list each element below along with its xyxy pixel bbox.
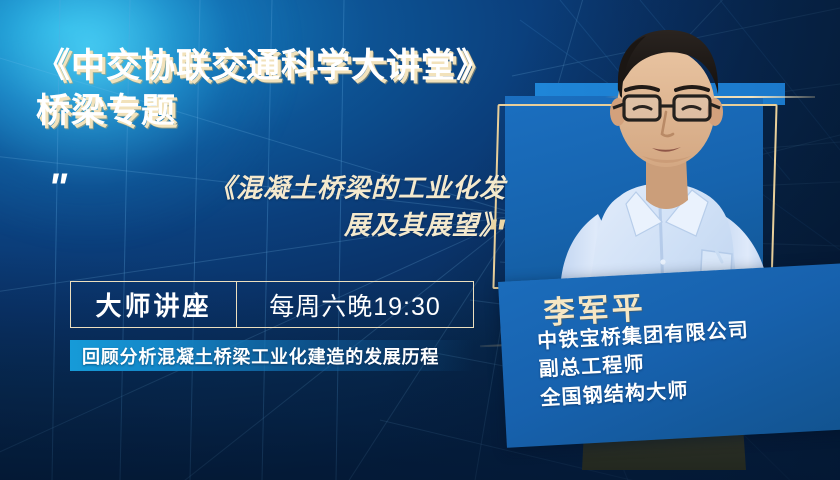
speaker-name-card: 李军平 中铁宝桥集团有限公司 副总工程师 全国钢结构大师 xyxy=(498,263,840,448)
quote-close-icon: " xyxy=(486,214,502,254)
poster-tagline: 回顾分析混凝土桥梁工业化建造的发展历程 xyxy=(70,340,474,371)
session-label: 大师讲座 xyxy=(71,282,237,327)
title-line-1: 《中交协联交通科学大讲堂》 xyxy=(36,44,516,89)
session-info-box: 大师讲座 每周六晚19:30 xyxy=(70,281,474,328)
quote-open-icon: " xyxy=(48,168,64,208)
lecture-topic-quote: " 《混凝土桥梁的工业化发 展及其展望》 " xyxy=(48,168,518,260)
quote-line-1: 《混凝土桥梁的工业化发 xyxy=(86,170,506,207)
speaker-credentials: 中铁宝桥集团有限公司 副总工程师 全国钢结构大师 xyxy=(537,317,753,414)
quote-text: 《混凝土桥梁的工业化发 展及其展望》 xyxy=(86,170,506,244)
session-schedule: 每周六晚19:30 xyxy=(237,287,473,323)
title-line-2: 桥梁专题 xyxy=(36,89,516,134)
promo-poster: 李军平 中铁宝桥集团有限公司 副总工程师 全国钢结构大师 《中交协联交通科学大讲… xyxy=(0,0,840,480)
poster-title: 《中交协联交通科学大讲堂》 桥梁专题 xyxy=(36,44,516,134)
quote-line-2: 展及其展望》 xyxy=(86,207,506,244)
